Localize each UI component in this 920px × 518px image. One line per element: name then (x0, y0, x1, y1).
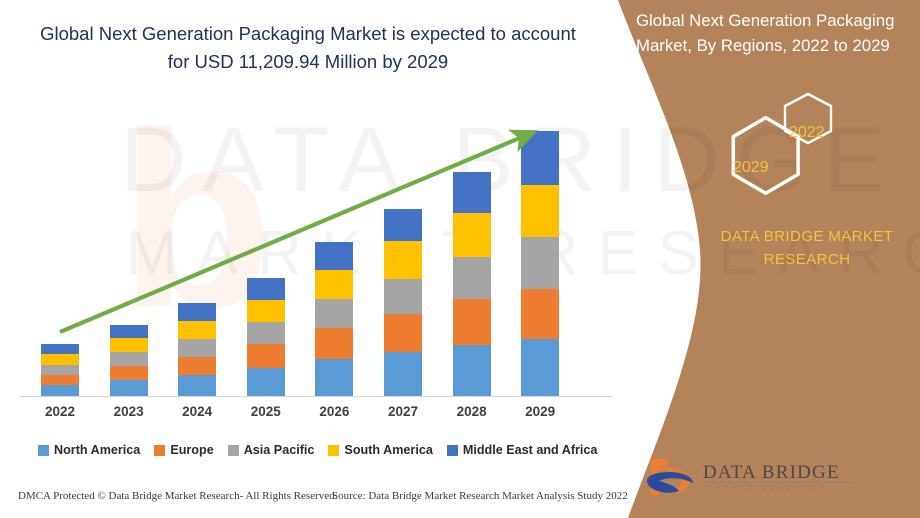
bar-segment (521, 185, 559, 237)
legend-label: Middle East and Africa (463, 443, 598, 457)
bar-segment (41, 344, 79, 354)
bar-segment (247, 344, 285, 368)
bar-segment (453, 172, 491, 213)
stacked-bar (41, 344, 79, 396)
hexagon-2022-label: 2022 (789, 124, 825, 142)
bar-segment (178, 357, 216, 375)
legend-swatch-icon (447, 445, 458, 456)
bars-layer (0, 0, 620, 396)
logo-subtitle: MARKET RESEARCH (705, 484, 829, 492)
bar-segment (41, 385, 79, 396)
infographic-canvas: b DATA BRIDGE MARKET RESEARCH Global Nex… (0, 0, 920, 518)
brand-caption-line-1: DATA BRIDGE MARKET (694, 225, 920, 248)
hexagon-outlines (690, 92, 920, 202)
legend-label: North America (54, 443, 140, 457)
legend-item[interactable]: Europe (154, 443, 213, 457)
bar-segment (41, 354, 79, 365)
bar-segment (110, 366, 148, 380)
panel-title: Global Next Generation Packaging Market,… (636, 8, 920, 58)
bar-segment (178, 339, 216, 357)
bar-segment (315, 328, 353, 359)
bar-segment (453, 299, 491, 345)
logo-mark-icon (645, 455, 701, 505)
bar-segment (247, 278, 285, 300)
bar-group-2025 (247, 0, 285, 396)
bar-group-2027 (384, 0, 422, 396)
bar-segment (384, 314, 422, 352)
legend-label: Asia Pacific (244, 443, 315, 457)
bar-segment (41, 365, 79, 375)
legend-swatch-icon (38, 445, 49, 456)
bar-segment (110, 338, 148, 352)
bar-segment (178, 321, 216, 339)
bar-segment (384, 241, 422, 279)
bar-segment (178, 303, 216, 321)
x-axis-label-2022: 2022 (25, 404, 95, 419)
bar-segment (247, 368, 285, 396)
bar-segment (521, 289, 559, 339)
x-axis-label-2027: 2027 (368, 404, 438, 419)
bar-segment (521, 237, 559, 289)
bar-segment (247, 322, 285, 344)
x-axis-label-2028: 2028 (437, 404, 507, 419)
legend-swatch-icon (154, 445, 165, 456)
x-axis-line (20, 396, 612, 397)
footer-source: Source: Data Bridge Market Research Mark… (332, 490, 628, 502)
bar-segment (110, 352, 148, 366)
legend-label: Europe (170, 443, 213, 457)
logo-title: DATA BRIDGE (703, 462, 840, 484)
bar-segment (384, 352, 422, 396)
bar-group-2029 (521, 0, 559, 396)
bar-segment (521, 131, 559, 185)
hexagon-2029-label: 2029 (733, 159, 769, 177)
x-axis-label-2024: 2024 (162, 404, 232, 419)
x-axis-label-2029: 2029 (505, 404, 575, 419)
bar-group-2024 (178, 0, 216, 396)
bar-segment (453, 213, 491, 257)
bar-group-2023 (110, 0, 148, 396)
x-axis-label-2025: 2025 (231, 404, 301, 419)
legend-item[interactable]: North America (38, 443, 140, 457)
bar-segment (384, 209, 422, 241)
legend-label: South America (344, 443, 432, 457)
bar-segment (247, 300, 285, 322)
footer-copyright: DMCA Protected © Data Bridge Market Rese… (18, 490, 337, 502)
bar-segment (384, 279, 422, 314)
hexagon-badges (690, 92, 920, 202)
stacked-bar (110, 325, 148, 396)
bar-segment (315, 270, 353, 299)
legend-swatch-icon (328, 445, 339, 456)
stacked-bar (453, 172, 491, 396)
bar-group-2022 (41, 0, 79, 396)
legend-item[interactable]: Asia Pacific (228, 443, 315, 457)
stacked-bar (521, 131, 559, 396)
bar-segment (315, 242, 353, 270)
data-bridge-logo: DATA BRIDGE MARKET RESEARCH (645, 455, 905, 507)
bar-segment (41, 375, 79, 385)
x-axis-label-2023: 2023 (94, 404, 164, 419)
stacked-bar (384, 209, 422, 396)
brand-caption: DATA BRIDGE MARKET RESEARCH (694, 225, 920, 271)
stacked-bar (178, 303, 216, 396)
brand-caption-line-2: RESEARCH (694, 248, 920, 271)
legend-item[interactable]: Middle East and Africa (447, 443, 598, 457)
bar-segment (110, 380, 148, 396)
chart-legend: North AmericaEuropeAsia PacificSouth Ame… (38, 443, 597, 457)
bar-segment (315, 359, 353, 396)
stacked-bar (247, 278, 285, 396)
logo-divider (703, 482, 851, 483)
bar-segment (315, 299, 353, 328)
bar-segment (521, 339, 559, 396)
legend-item[interactable]: South America (328, 443, 432, 457)
bar-segment (453, 345, 491, 396)
bar-segment (110, 325, 148, 338)
stacked-bar-chart: 20222023202420252026202720282029 (0, 0, 610, 290)
legend-swatch-icon (228, 445, 239, 456)
stacked-bar (315, 242, 353, 396)
bar-group-2026 (315, 0, 353, 396)
bar-segment (453, 257, 491, 299)
bar-group-2028 (453, 0, 491, 396)
x-axis-label-2026: 2026 (299, 404, 369, 419)
bar-segment (178, 375, 216, 396)
